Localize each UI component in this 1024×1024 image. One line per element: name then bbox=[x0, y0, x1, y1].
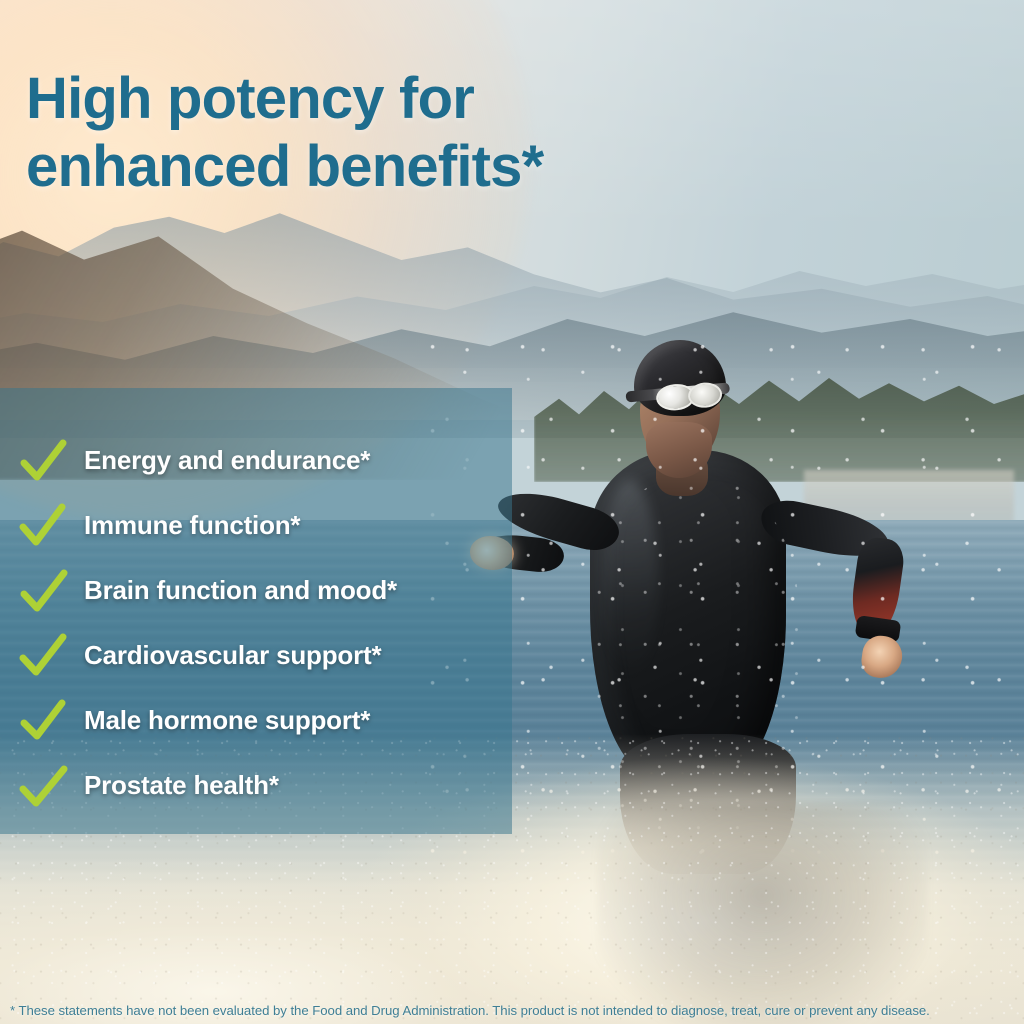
benefit-label: Brain function and mood* bbox=[84, 575, 397, 606]
benefit-label: Cardiovascular support* bbox=[84, 640, 381, 671]
promo-image: High potency for enhanced benefits* Ener… bbox=[0, 0, 1024, 1024]
list-item: Prostate health* bbox=[0, 753, 512, 818]
benefits-panel: Energy and endurance* Immune function* B… bbox=[0, 388, 512, 834]
benefit-label: Male hormone support* bbox=[84, 705, 370, 736]
headline-line-2: enhanced benefits* bbox=[26, 133, 726, 201]
benefit-label: Prostate health* bbox=[84, 770, 279, 801]
benefit-label: Immune function* bbox=[84, 510, 300, 541]
page-title: High potency for enhanced benefits* bbox=[26, 65, 726, 202]
benefits-list: Energy and endurance* Immune function* B… bbox=[0, 388, 512, 818]
check-icon bbox=[18, 698, 68, 744]
check-icon bbox=[18, 503, 68, 549]
benefit-label: Energy and endurance* bbox=[84, 445, 370, 476]
list-item: Brain function and mood* bbox=[0, 558, 512, 623]
list-item: Energy and endurance* bbox=[0, 428, 512, 493]
list-item: Male hormone support* bbox=[0, 688, 512, 753]
disclaimer-text: * These statements have not been evaluat… bbox=[10, 1003, 930, 1018]
list-item: Cardiovascular support* bbox=[0, 623, 512, 688]
check-icon bbox=[18, 633, 68, 679]
headline-line-1: High potency for bbox=[26, 65, 726, 133]
list-item: Immune function* bbox=[0, 493, 512, 558]
footer-disclaimer: * These statements have not been evaluat… bbox=[0, 996, 1024, 1024]
check-icon bbox=[18, 568, 68, 614]
check-icon bbox=[18, 763, 68, 809]
check-icon bbox=[18, 438, 68, 484]
swimmer-right-hand bbox=[859, 633, 904, 680]
